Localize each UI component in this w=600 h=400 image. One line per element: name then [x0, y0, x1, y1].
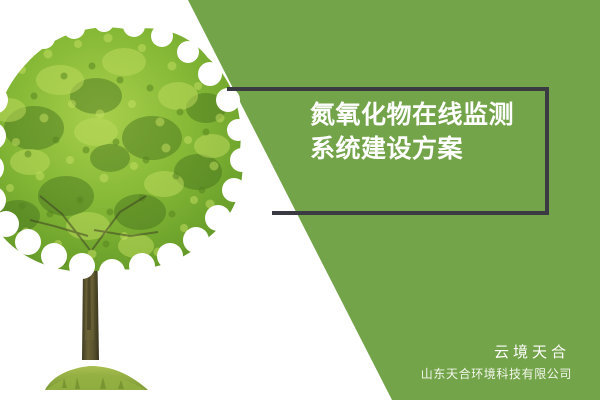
brand-footer: 云境天合 山东天合环境科技有限公司	[421, 342, 572, 384]
slide-title-line-1: 氮氧化物在线监测	[310, 98, 560, 132]
brand-name: 云境天合	[421, 342, 572, 364]
slide-title-line-2: 系统建设方案	[310, 132, 560, 166]
tree-trunk	[52, 148, 126, 360]
brand-company-name: 山东天合环境科技有限公司	[421, 364, 572, 384]
presentation-cover-slide: 氮氧化物在线监测 系统建设方案 云境天合 山东天合环境科技有限公司	[0, 0, 600, 400]
grass-base	[45, 366, 148, 390]
slide-title: 氮氧化物在线监测 系统建设方案	[310, 98, 560, 166]
green-diagonal-panel	[0, 0, 600, 400]
